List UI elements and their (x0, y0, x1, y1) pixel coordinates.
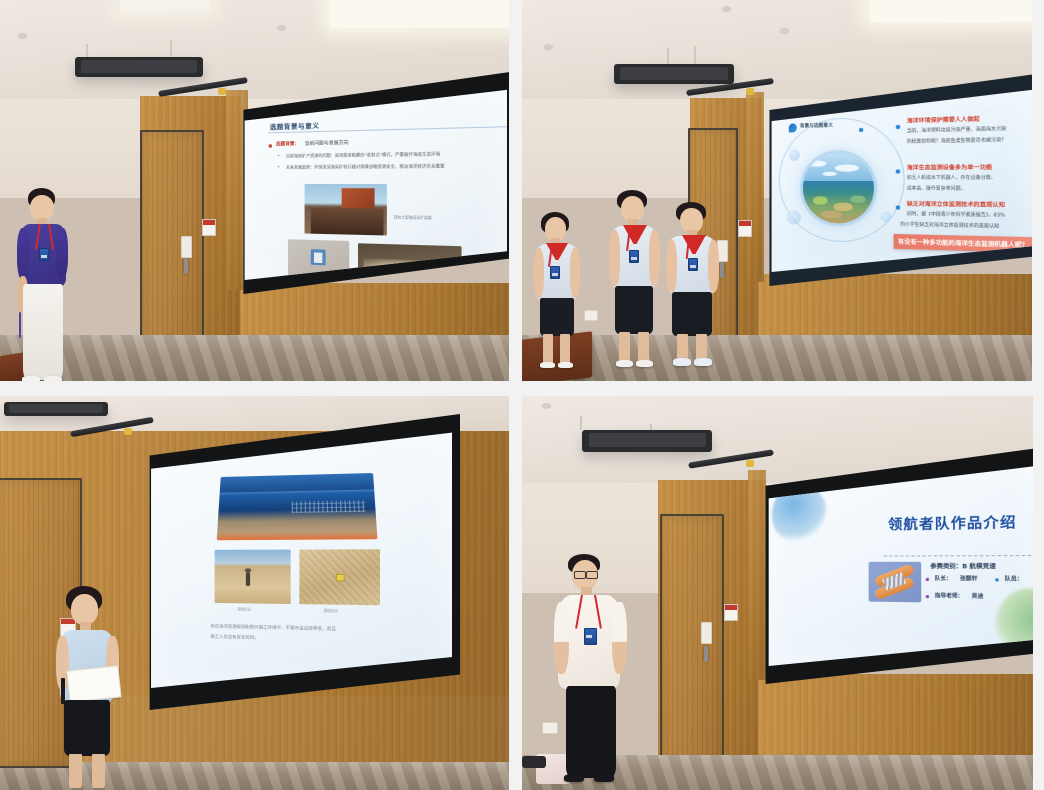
shoe (673, 358, 691, 366)
photo-panel-bottom-right: 领航者队作品介绍 参赛类别：B 航模竞速 队长： 张颢轩 队员： 赵紫越 王紫霏 (522, 396, 1033, 790)
shoe (564, 774, 584, 782)
shorts (672, 292, 712, 336)
row-bullet (995, 578, 999, 581)
roller-knob-icon (124, 428, 132, 435)
shorts (615, 286, 653, 334)
held-paper (66, 665, 121, 702)
slide-photo-ocean-globe (803, 153, 874, 224)
arm-right (708, 240, 719, 292)
ceiling-light-frame (75, 57, 203, 77)
image-caption: 现场情况 (237, 606, 250, 611)
screen-surface: 现场情况 现场情况 但在海洋资源探测和野外施工环境中，不易布设且效率低，而且 施… (148, 430, 452, 688)
shoe (558, 362, 573, 368)
arm-right (56, 228, 68, 278)
image-caption: 现有大型海底采矿装置 (394, 214, 432, 220)
wall-socket (542, 722, 558, 734)
shoe (616, 360, 633, 367)
table (522, 331, 592, 381)
smoke-detector-icon (780, 28, 789, 33)
shoe (22, 376, 40, 381)
floor (0, 335, 509, 381)
legs (69, 754, 82, 788)
slide-title: 领航者队作品介绍 (888, 511, 1017, 534)
screen-surface: 领航者队作品介绍 参赛类别：B 航模竞速 队长： 张颢轩 队员： 赵紫越 王紫霏 (766, 464, 1033, 666)
shoe (636, 360, 653, 367)
room-scene: 背景与选题意义 (522, 0, 1032, 381)
door-sign (202, 219, 216, 236)
sub-bullet-text: 目前海底矿产资源的问题：采用简单粗暴的“收割式”模式，严重破坏海底生态环境 (286, 151, 440, 159)
ceiling-light-panel (870, 0, 1032, 22)
slide-3: 现场情况 现场情况 但在海洋资源探测和野外施工环境中，不易布设且效率低，而且 施… (148, 430, 452, 688)
advisor-name: 吴迪 (972, 592, 984, 600)
slide-body-line: 但在海洋资源探测和野外施工环境中，不易布设且效率低，而且 (210, 623, 336, 632)
floor (522, 335, 1032, 381)
decorative-bubble (789, 150, 800, 161)
screen-surface: 选题背景与意义 选题背景： 当前问题与发展方向 ▸ 目前海底矿产资源的问题：采用… (242, 88, 507, 280)
slide-4: 领航者队作品介绍 参赛类别：B 航模竞速 队长： 张颢轩 队员： 赵紫越 王紫霏 (766, 464, 1033, 666)
image-caption: 现场情况 (324, 608, 338, 614)
id-badge (550, 266, 560, 279)
projector-screen: 背景与选题意义 (764, 74, 1032, 286)
section-body-line: 的程度如何呢？海底鱼类生物是否也被污染？ (907, 137, 1007, 145)
roller-knob-icon (746, 88, 754, 95)
brand-logo-icon (789, 123, 797, 132)
arm-left (666, 240, 677, 292)
smoke-detector-icon (542, 403, 551, 408)
ceiling-drop-rod (580, 416, 582, 430)
decorative-bubble (787, 210, 801, 224)
floor-texture (0, 335, 509, 381)
door[interactable] (660, 514, 724, 766)
roller-knob-icon (218, 88, 226, 95)
section-body-line: 的小学生缺乏对海洋立体监测技术的直观认知 (900, 221, 999, 229)
section-dot (896, 169, 900, 173)
door-handle-icon[interactable] (184, 258, 188, 274)
shorts (64, 700, 110, 756)
door-handle-icon[interactable] (704, 646, 708, 662)
ceiling-drop-rod (694, 46, 696, 66)
arm-left (554, 602, 569, 674)
shoe (594, 774, 614, 782)
photo-collage: 选题背景与意义 选题背景： 当前问题与发展方向 ▸ 目前海底矿产资源的问题：采用… (0, 0, 1044, 790)
glasses-icon (574, 571, 586, 579)
section-body-line: 当前，海洋塑料垃圾污染严重、海面海水污染 (907, 126, 1007, 135)
trousers (23, 284, 63, 380)
id-badge (629, 250, 639, 263)
section-heading: 海洋环境保护需要人人做起 (907, 114, 980, 125)
shoe (694, 358, 712, 366)
shoe-on-floor (522, 756, 546, 768)
banner-text: 有没有一种多功能的海洋生态监测机器人呢？ (898, 237, 1028, 249)
ceiling-light-frame (614, 64, 734, 84)
section-body-line: 如无人机或水下机器人，存在设备分散、 (907, 174, 996, 181)
shorts (540, 298, 574, 336)
projector-screen: 现场情况 现场情况 但在海洋资源探测和野外施工环境中，不易布设且效率低，而且 施… (140, 414, 460, 710)
bullet-label: 选题背景： (276, 141, 300, 148)
section-body-line: 同时，据《中国青少年科学素质报告》，83% (907, 211, 1005, 219)
pointer-device (19, 312, 21, 338)
photo-panel-bottom-left: 现场情况 现场情况 但在海洋资源探测和野外施工环境中，不易布设且效率低，而且 施… (0, 396, 509, 790)
floor-texture (522, 335, 1032, 381)
door-sign (738, 220, 752, 237)
decorative-bubble (880, 212, 891, 223)
room-scene: 现场情况 现场情况 但在海洋资源探测和野外施工环境中，不易布设且效率低，而且 施… (0, 396, 509, 790)
photo-panel-top-left: 选题背景与意义 选题背景： 当前问题与发展方向 ▸ 目前海底矿产资源的问题：采用… (0, 0, 509, 381)
glasses-icon (586, 571, 598, 579)
arm-right (649, 230, 660, 286)
row-bullet (926, 578, 929, 581)
smoke-detector-icon (277, 25, 286, 30)
door-handle-icon[interactable] (720, 262, 724, 278)
smoke-detector-icon (18, 33, 27, 38)
slide-photo-boat-model (869, 562, 922, 603)
arm-right (570, 248, 580, 298)
photo-panel-top-right: 背景与选题意义 (522, 0, 1032, 381)
section-dot (896, 205, 900, 209)
team-members-label: 队员： (1005, 575, 1023, 583)
smoke-detector-icon (544, 44, 553, 49)
competition-category: 参赛类别：B 航模竞速 (930, 562, 996, 571)
door-lock-icon (181, 236, 192, 258)
id-badge (688, 258, 698, 271)
slide-photo-ground-survey (299, 549, 379, 605)
team-leader-name: 张颢轩 (960, 575, 977, 583)
ceiling-light-frame (4, 402, 108, 416)
head (71, 594, 98, 625)
door-lock-icon (701, 622, 712, 644)
door-sign (724, 604, 738, 621)
room-scene: 选题背景与意义 选题背景： 当前问题与发展方向 ▸ 目前海底矿产资源的问题：采用… (0, 0, 509, 381)
title-divider (884, 555, 1033, 557)
slide-title: 选题背景与意义 (270, 120, 320, 132)
bullet-text: 当前问题与发展方向 (305, 140, 349, 147)
slide-photo-field-worker (215, 550, 291, 604)
projector-screen: 选题背景与意义 选题背景： 当前问题与发展方向 ▸ 目前海底矿产资源的问题：采用… (238, 72, 509, 294)
slide-photo-mining-vessel (305, 184, 387, 236)
sub-bullet-text: 未来发展趋势：环保型深海采矿机行器对保障战略资源安全、推动海洋经济至关重要 (286, 163, 445, 171)
smoke-detector-icon (722, 6, 731, 11)
door[interactable] (140, 130, 204, 366)
arm-left (609, 230, 620, 286)
section-heading: 海洋生态监测设备多为单一功能 (907, 162, 992, 171)
sub-bullet-arrow-icon: ▸ (278, 164, 280, 169)
roller-knob-icon (746, 460, 754, 467)
sub-bullet-arrow-icon: ▸ (278, 152, 280, 157)
shoe (540, 362, 555, 368)
ceiling-light-panel (120, 0, 210, 12)
room-scene: 领航者队作品介绍 参赛类别：B 航模竞速 队长： 张颢轩 队员： 赵紫越 王紫霏 (522, 396, 1033, 790)
slide-photo-seabed-diagram (217, 473, 378, 540)
shoe (44, 376, 62, 381)
arm-left (17, 228, 30, 280)
bullet-marker (269, 144, 272, 147)
section-heading: 缺乏对海洋立体监测技术的直观认知 (907, 199, 1005, 209)
team-leader-label: 队长： (935, 575, 952, 583)
id-badge (584, 628, 597, 645)
ceiling-light-frame (582, 430, 712, 452)
section-dot (896, 125, 900, 129)
wall-socket (584, 310, 598, 321)
ceiling-drop-rod (170, 40, 172, 56)
legs (92, 754, 105, 788)
wood-wall-col (746, 92, 764, 282)
advisor-label: 指导老师： (935, 592, 964, 600)
section-body-line: 成本高、操作复杂等问题。 (907, 185, 966, 192)
projector-screen: 领航者队作品介绍 参赛类别：B 航模竞速 队长： 张颢轩 队员： 赵紫越 王紫霏 (760, 448, 1033, 684)
id-badge (39, 248, 49, 261)
trousers (566, 686, 616, 778)
ceiling-light-panel (330, 0, 509, 28)
arm-right (612, 602, 627, 674)
slide-body-line: 施工人员会有安全风险。 (210, 634, 258, 641)
slide-1: 选题背景与意义 选题背景： 当前问题与发展方向 ▸ 目前海底矿产资源的问题：采用… (242, 88, 507, 280)
arm-left (534, 248, 544, 298)
row-bullet (926, 595, 929, 598)
ceiling-drop-rod (86, 44, 88, 58)
